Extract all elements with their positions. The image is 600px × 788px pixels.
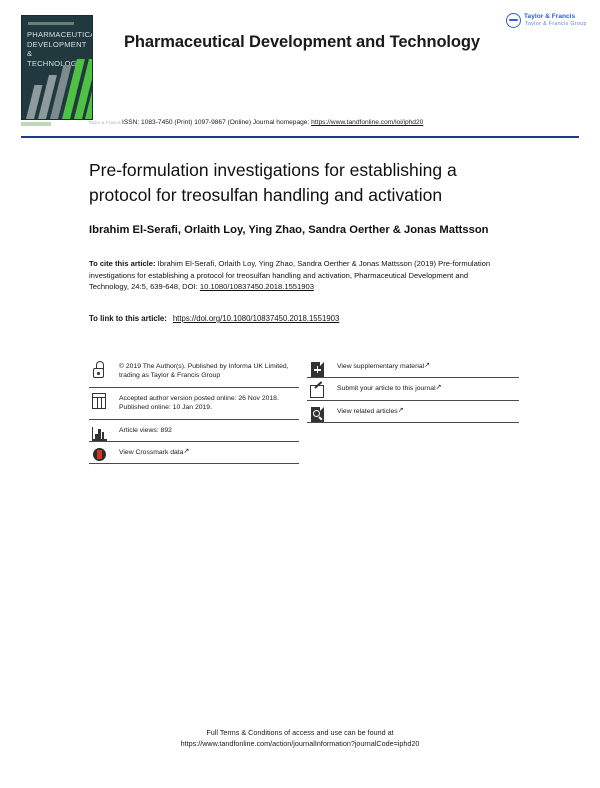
issn-text: ISSN: 1083-7450 (Print) 1097-9867 (Onlin… bbox=[122, 119, 423, 126]
metrics-divider bbox=[89, 463, 299, 464]
link-line-label: To link to this article: bbox=[89, 314, 167, 323]
crossmark-row[interactable]: ˜,˜ˑ View Crossmark data↗ bbox=[89, 442, 299, 463]
edit-pencil-icon bbox=[309, 383, 326, 400]
footer-line-2[interactable]: https://www.tandfonline.com/action/journ… bbox=[0, 738, 600, 749]
crossmark-link-text[interactable]: View Crossmark data bbox=[119, 449, 183, 456]
issn-faint-mark: Taylor & Francis bbox=[88, 120, 121, 125]
copyright-row: © 2019 The Author(s). Published by Infor… bbox=[89, 356, 299, 387]
submit-article-link-text[interactable]: Submit your article to this journal bbox=[337, 385, 436, 392]
logo-text-primary: Taylor & Francis bbox=[524, 13, 575, 20]
cover-top-rule bbox=[28, 22, 74, 25]
related-articles-row[interactable]: View related articles↗ bbox=[307, 401, 519, 422]
citation-label: To cite this article: bbox=[89, 259, 156, 268]
citation-block: To cite this article: Ibrahim El-Serafi,… bbox=[89, 258, 509, 293]
copyright-text: © 2019 The Author(s). Published by Infor… bbox=[119, 362, 299, 381]
accepted-date-text: Accepted author version posted online: 2… bbox=[119, 394, 299, 403]
cover-stripes bbox=[22, 57, 93, 119]
citation-doi-link[interactable]: 10.1080/10837450.2018.1551903 bbox=[200, 282, 314, 291]
publication-dates-row: Accepted author version posted online: 2… bbox=[89, 388, 299, 419]
document-search-icon bbox=[309, 406, 326, 423]
article-title: Pre-formulation investigations for estab… bbox=[89, 158, 509, 208]
article-authors: Ibrahim El-Serafi, Orlaith Loy, Ying Zha… bbox=[89, 224, 519, 236]
footer-line-1: Full Terms & Conditions of access and us… bbox=[0, 727, 600, 738]
article-views-row: Article views: 892 bbox=[89, 420, 299, 441]
calendar-icon bbox=[91, 393, 108, 410]
article-doi-url[interactable]: https://doi.org/10.1080/10837450.2018.15… bbox=[173, 314, 339, 323]
metrics-divider bbox=[307, 422, 519, 423]
external-link-icon: ↗ bbox=[436, 383, 442, 392]
metrics-right-column: View supplementary material↗ Submit your… bbox=[307, 356, 519, 423]
supplementary-material-row[interactable]: View supplementary material↗ bbox=[307, 356, 519, 377]
taylor-and-francis-logo[interactable]: Taylor & Francis Taylor & Francis Group bbox=[506, 11, 578, 33]
footer: Full Terms & Conditions of access and us… bbox=[0, 727, 600, 749]
journal-cover-image: PHARMACEUTICAL DEVELOPMENT & TECHNOLOGY bbox=[21, 15, 93, 120]
metrics-left-column: © 2019 The Author(s). Published by Infor… bbox=[89, 356, 299, 464]
document-plus-icon bbox=[309, 361, 326, 378]
external-link-icon: ↗ bbox=[398, 406, 404, 415]
crossmark-icon: ˜,˜ˑ bbox=[91, 447, 108, 464]
published-date-text: Published online: 10 Jan 2019. bbox=[119, 403, 299, 412]
journal-title: Pharmaceutical Development and Technolog… bbox=[124, 33, 480, 52]
issn-green-mark bbox=[21, 122, 51, 126]
cover-title-line-2: DEVELOPMENT & bbox=[27, 40, 91, 59]
supplementary-material-link-text[interactable]: View supplementary material bbox=[337, 363, 424, 370]
submit-article-row[interactable]: Submit your article to this journal↗ bbox=[307, 378, 519, 399]
cover-title-line-1: PHARMACEUTICAL bbox=[27, 30, 91, 40]
external-link-icon: ↗ bbox=[424, 361, 430, 370]
bar-chart-icon bbox=[91, 425, 108, 442]
open-access-lock-icon bbox=[91, 361, 108, 378]
article-views-text: Article views: 892 bbox=[119, 426, 299, 435]
journal-homepage-link[interactable]: https://www.tandfonline.com/loi/iphd20 bbox=[311, 119, 423, 126]
issn-row: Taylor & Francis ISSN: 1083-7450 (Print)… bbox=[0, 118, 600, 134]
metrics-section: © 2019 The Author(s). Published by Infor… bbox=[89, 356, 519, 531]
issn-label: ISSN: 1083-7450 (Print) 1097-9867 (Onlin… bbox=[122, 119, 311, 126]
related-articles-link-text[interactable]: View related articles bbox=[337, 408, 398, 415]
logo-text-secondary: Taylor & Francis Group bbox=[525, 21, 587, 27]
external-link-icon: ↗ bbox=[183, 447, 189, 456]
link-line: To link to this article:https://doi.org/… bbox=[89, 314, 509, 323]
header-divider bbox=[21, 136, 579, 138]
